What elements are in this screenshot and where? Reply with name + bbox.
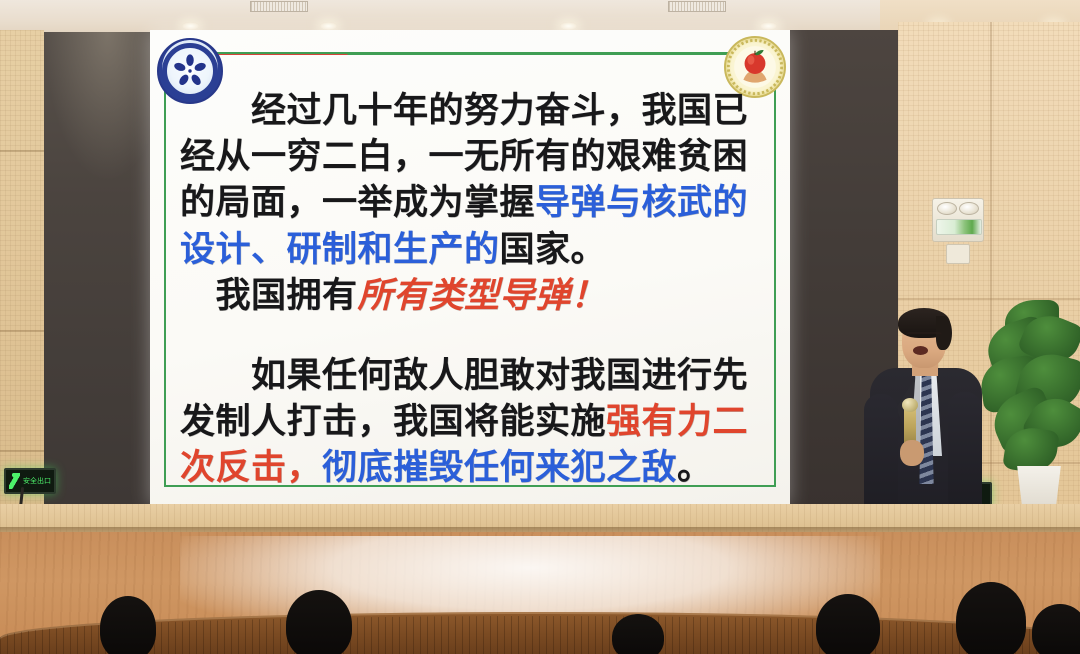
slide-paragraph-2: 如果任何敌人胆敢对我国进行先 发制人打击，我国将能实施强有力二 次反击，彻底摧毁… bbox=[180, 353, 764, 492]
presenter-arm-right bbox=[948, 392, 982, 514]
atom-flower-icon bbox=[173, 54, 207, 88]
audience-head bbox=[612, 614, 664, 654]
projection-screen: 经过几十年的努力奋斗，我国已 经从一穷二白，一无所有的艰难贫困 的局面，一举成为… bbox=[150, 30, 790, 506]
emergency-light-fixture bbox=[932, 198, 984, 242]
slide-line: 经从一穷二白，一无所有的艰难贫困 bbox=[180, 134, 764, 180]
audience-head bbox=[286, 590, 352, 654]
downlight-3 bbox=[560, 22, 577, 30]
wall-panel-left bbox=[0, 30, 44, 506]
ceiling-vent-2 bbox=[668, 1, 726, 12]
slide-line-highlight: 我国拥有所有类型导弹！ bbox=[180, 273, 764, 319]
microphone-head bbox=[902, 398, 918, 412]
slide-line: 发制人打击，我国将能实施强有力二 bbox=[180, 399, 764, 445]
slide-text-body: 经过几十年的努力奋斗，我国已 经从一穷二白，一无所有的艰难贫困 的局面，一举成为… bbox=[180, 88, 764, 492]
wall-panel-dark-left bbox=[44, 32, 150, 504]
slide-line: 次反击，彻底摧毁任何来犯之敌。 bbox=[180, 445, 764, 491]
downlight-4 bbox=[760, 22, 777, 30]
audience-head bbox=[100, 596, 156, 654]
running-man-icon bbox=[9, 473, 20, 489]
lecture-hall-scene: 安全出口 → bbox=[0, 0, 1080, 654]
audience-head bbox=[816, 594, 880, 654]
downlight-1 bbox=[182, 22, 199, 30]
slide-line: 的局面，一举成为掌握导弹与核武的 bbox=[180, 180, 764, 226]
slide-paragraph-gap bbox=[180, 319, 764, 353]
stage-front-slats bbox=[0, 616, 1080, 654]
exit-sign-left: 安全出口 bbox=[4, 468, 56, 494]
eyeglasses-icon bbox=[906, 332, 942, 339]
emergency-light-junction-box bbox=[946, 244, 970, 264]
slide-line: 设计、研制和生产的国家。 bbox=[180, 227, 764, 273]
ceiling-vent-1 bbox=[250, 1, 308, 12]
audience-head bbox=[1032, 604, 1080, 654]
exit-sign-left-label: 安全出口 bbox=[23, 476, 51, 486]
presenter-mouth bbox=[913, 346, 928, 355]
slide-paragraph-1: 经过几十年的努力奋斗，我国已 经从一穷二白，一无所有的艰难贫困 的局面，一举成为… bbox=[180, 88, 764, 319]
slide-line: 经过几十年的努力奋斗，我国已 bbox=[180, 88, 764, 134]
audience-head bbox=[956, 582, 1026, 654]
slide-line: 如果任何敌人胆敢对我国进行先 bbox=[180, 353, 764, 399]
downlight-2 bbox=[320, 22, 337, 30]
presenter-hand-right bbox=[900, 440, 924, 466]
